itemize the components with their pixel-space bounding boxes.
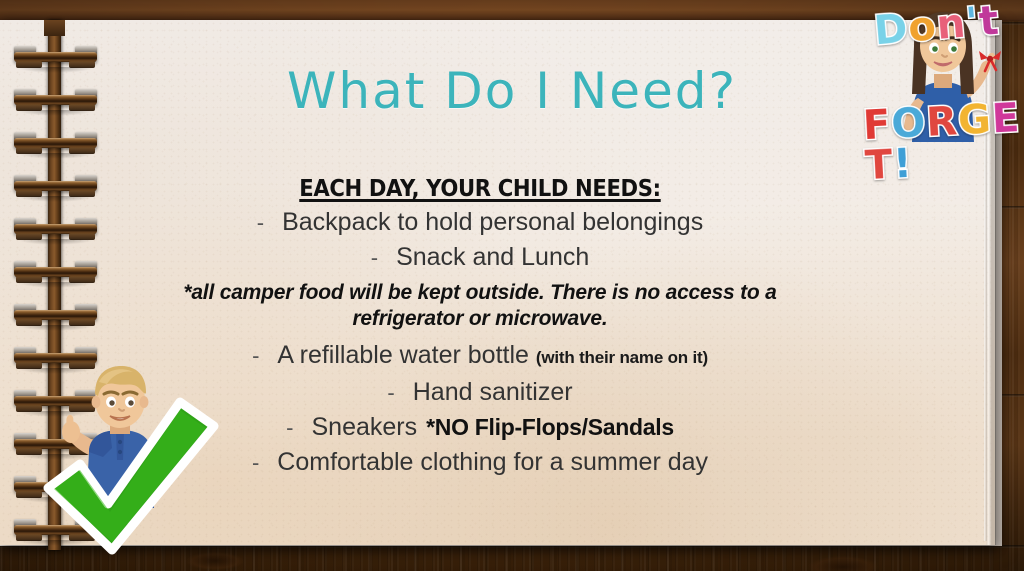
bullet-dash: - xyxy=(371,245,378,270)
list-item-label: Snack and Lunch xyxy=(396,243,589,271)
sticker-letter: E xyxy=(991,98,1021,139)
sticker-letter: T xyxy=(864,145,894,186)
list-item: -A refillable water bottle(with their na… xyxy=(120,338,840,375)
list-item-suffix: (with their name on it) xyxy=(536,348,708,367)
spiral-ring xyxy=(14,132,97,154)
spiral-spine-cap xyxy=(44,20,65,36)
sticker-letter: G xyxy=(957,99,993,141)
list-item-label: Hand sanitizer xyxy=(413,378,573,406)
list-item: -Backpack to hold personal belongings xyxy=(120,205,840,240)
list-item: -Comfortable clothing for a summer day xyxy=(120,445,840,480)
green-checkmark-icon xyxy=(40,392,220,557)
list-item-label: Backpack to hold personal belongings xyxy=(282,208,703,236)
sticker-word-dont: Don't xyxy=(872,1,1001,52)
spiral-ring xyxy=(14,218,97,240)
sticker-letter: ! xyxy=(892,144,913,185)
spiral-ring xyxy=(14,304,97,326)
spiral-ring xyxy=(14,261,97,283)
sticker-letter: n xyxy=(935,4,968,46)
list-item-label: Comfortable clothing for a summer day xyxy=(277,448,708,476)
list-item-label: Sneakers xyxy=(312,413,418,441)
food-policy-note: *all camper food will be kept outside. T… xyxy=(120,280,840,332)
list-item-label: A refillable water bottle xyxy=(277,341,529,369)
sticker-letter: D xyxy=(872,9,910,52)
sticker-letter: R xyxy=(925,101,959,143)
list-heading: EACH DAY, YOUR CHILD NEEDS: xyxy=(149,176,811,202)
list-item: -Sneakers*NO Flip-Flops/Sandals xyxy=(120,410,840,445)
slide-canvas: What Do I Need? EACH DAY, YOUR CHILD NEE… xyxy=(0,0,1024,571)
sticker-letter: F xyxy=(862,105,892,146)
dont-forget-sticker: Don't FORGET! xyxy=(862,2,1024,164)
sticker-letter: o xyxy=(907,6,939,48)
bullet-dash: - xyxy=(387,380,394,405)
list-item: -Snack and Lunch xyxy=(120,240,840,275)
requirements-list: EACH DAY, YOUR CHILD NEEDS: -Backpack to… xyxy=(120,176,840,480)
spiral-ring xyxy=(14,175,97,197)
list-item-suffix: *NO Flip-Flops/Sandals xyxy=(426,414,674,440)
sticker-letter: t xyxy=(978,1,1002,43)
list-item: -Hand sanitizer xyxy=(120,375,840,410)
food-policy-note-line-2: refrigerator or microwave. xyxy=(120,306,840,332)
food-policy-note-line-1: *all camper food will be kept outside. T… xyxy=(120,280,840,306)
bullet-dash: - xyxy=(252,450,259,475)
bullet-dash: - xyxy=(252,343,259,368)
sticker-letter: O xyxy=(890,103,927,145)
sticker-word-forget: FORGET! xyxy=(862,98,1024,186)
bullet-dash: - xyxy=(286,415,293,440)
bullet-dash: - xyxy=(257,210,264,235)
